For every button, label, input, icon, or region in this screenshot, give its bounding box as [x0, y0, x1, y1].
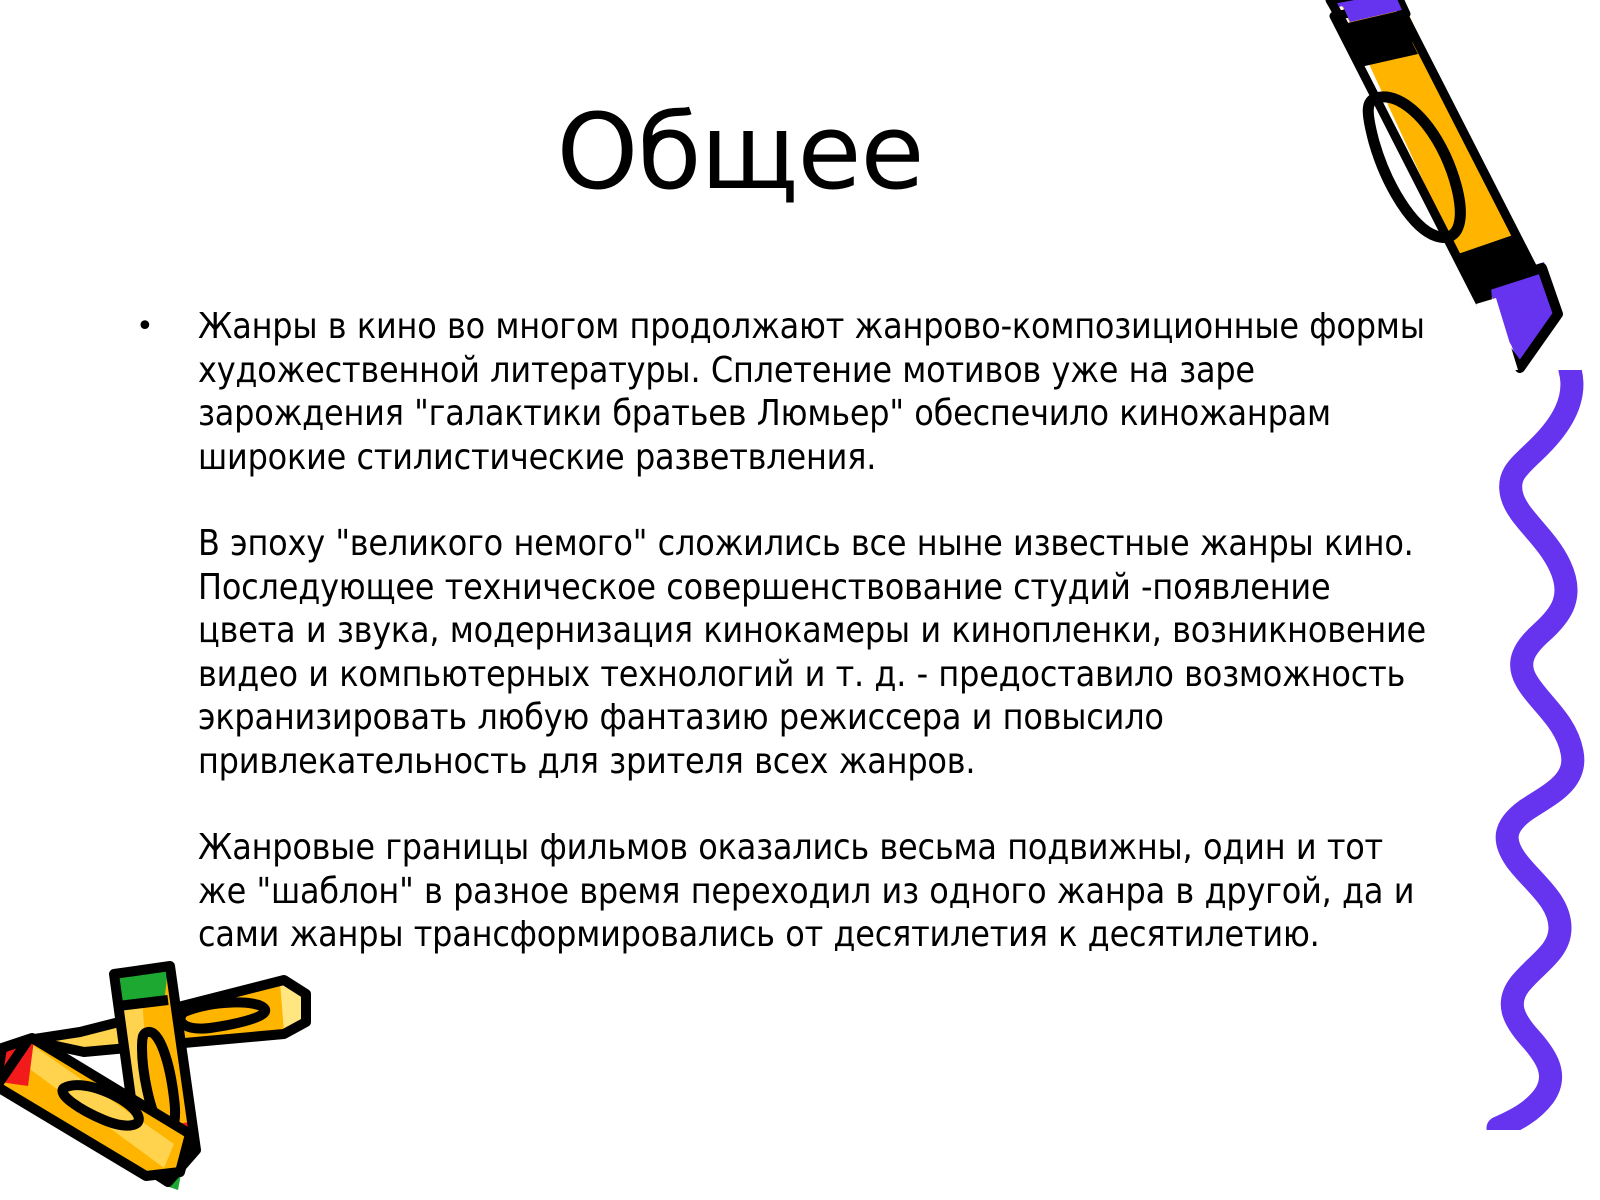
bullet-list-item: • Жанры в кино во многом продолжают жанр…	[128, 305, 1428, 957]
presentation-slide: Общее • Жанры в кино во многом продолжаю…	[0, 0, 1600, 1200]
paragraph-1: Жанры в кино во многом продолжают жанров…	[198, 305, 1428, 479]
crayon-horizontal	[28, 980, 308, 1052]
crayon-diagonal	[0, 1038, 190, 1176]
slide-body: • Жанры в кино во многом продолжают жанр…	[128, 305, 1428, 957]
paragraph-3: Жанровые границы фильмов оказались весьм…	[198, 826, 1428, 957]
paragraph-2: В эпоху "великого немого" сложились все …	[198, 522, 1428, 783]
crayon-vertical	[114, 966, 196, 1190]
slide-title: Общее	[0, 98, 1480, 207]
bullet-point-marker: •	[128, 305, 198, 348]
squiggle-line-right	[1420, 370, 1600, 1130]
bullet-text-container: Жанры в кино во многом продолжают жанров…	[198, 305, 1428, 957]
